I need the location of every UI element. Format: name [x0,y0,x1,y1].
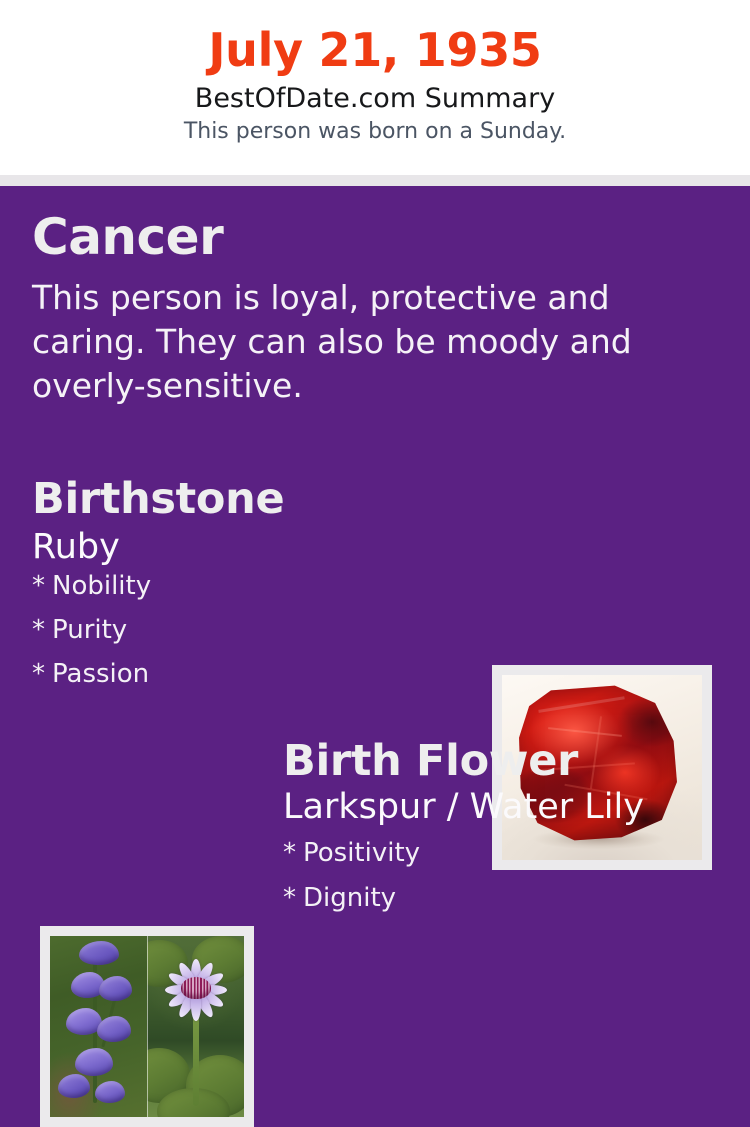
zodiac-section: Cancer This person is loyal, protective … [32,212,672,409]
asterisk-icon: * [32,573,52,599]
birth-flower-trait-label: Positivity [303,838,420,868]
zodiac-description: This person is loyal, protective and car… [32,262,672,409]
birthstone-trait-list: *Nobility *Purity *Passion [32,566,462,705]
birth-flower-heading: Birth Flower [283,740,723,783]
larkspur-photo-half [50,936,147,1117]
larkspur-bloom [58,1074,90,1098]
ruby-facet-line [538,696,625,713]
birthstone-heading: Birthstone [32,478,462,521]
list-item: *Nobility [32,573,462,617]
larkspur-water-lily-photo [50,936,244,1117]
asterisk-icon: * [283,885,303,911]
lily-stamen-center [181,977,211,999]
birth-flower-section: Birth Flower Larkspur / Water Lily *Posi… [283,740,723,930]
birth-flower-trait-list: *Positivity *Dignity [283,826,723,930]
larkspur-bloom [99,976,132,1001]
birthstone-trait-label: Passion [52,659,149,689]
born-day-text: This person was born on a Sunday. [0,113,750,144]
larkspur-bloom [75,1048,113,1076]
asterisk-icon: * [32,617,52,643]
birthday-summary-card: July 21, 1935 BestOfDate.com Summary Thi… [0,0,750,1000]
list-item: *Positivity [283,840,723,885]
birth-flower-image-frame [40,926,254,1127]
header-divider [0,175,750,186]
content-panel: Cancer This person is loyal, protective … [0,186,750,1000]
birth-flower-trait-label: Dignity [303,883,396,913]
card-header: July 21, 1935 BestOfDate.com Summary Thi… [0,0,750,175]
birthstone-value: Ruby [32,521,462,566]
site-summary-subtitle: BestOfDate.com Summary [0,75,750,114]
birth-flower-value: Larkspur / Water Lily [283,783,723,826]
birthstone-trait-label: Purity [52,615,127,645]
asterisk-icon: * [32,661,52,687]
page-title-date: July 21, 1935 [0,0,750,75]
larkspur-bloom [79,941,119,965]
birthstone-trait-label: Nobility [52,571,151,601]
list-item: *Purity [32,617,462,661]
list-item: *Passion [32,661,462,705]
image-split-divider [147,936,148,1117]
list-item: *Dignity [283,885,723,930]
zodiac-sign-name: Cancer [32,212,672,262]
birthstone-section: Birthstone Ruby *Nobility *Purity *Passi… [32,478,462,705]
water-lily-photo-half [147,936,244,1117]
larkspur-bloom [95,1081,125,1103]
asterisk-icon: * [283,840,303,866]
water-lily-bloom [155,957,237,1023]
larkspur-bloom [97,1016,131,1042]
